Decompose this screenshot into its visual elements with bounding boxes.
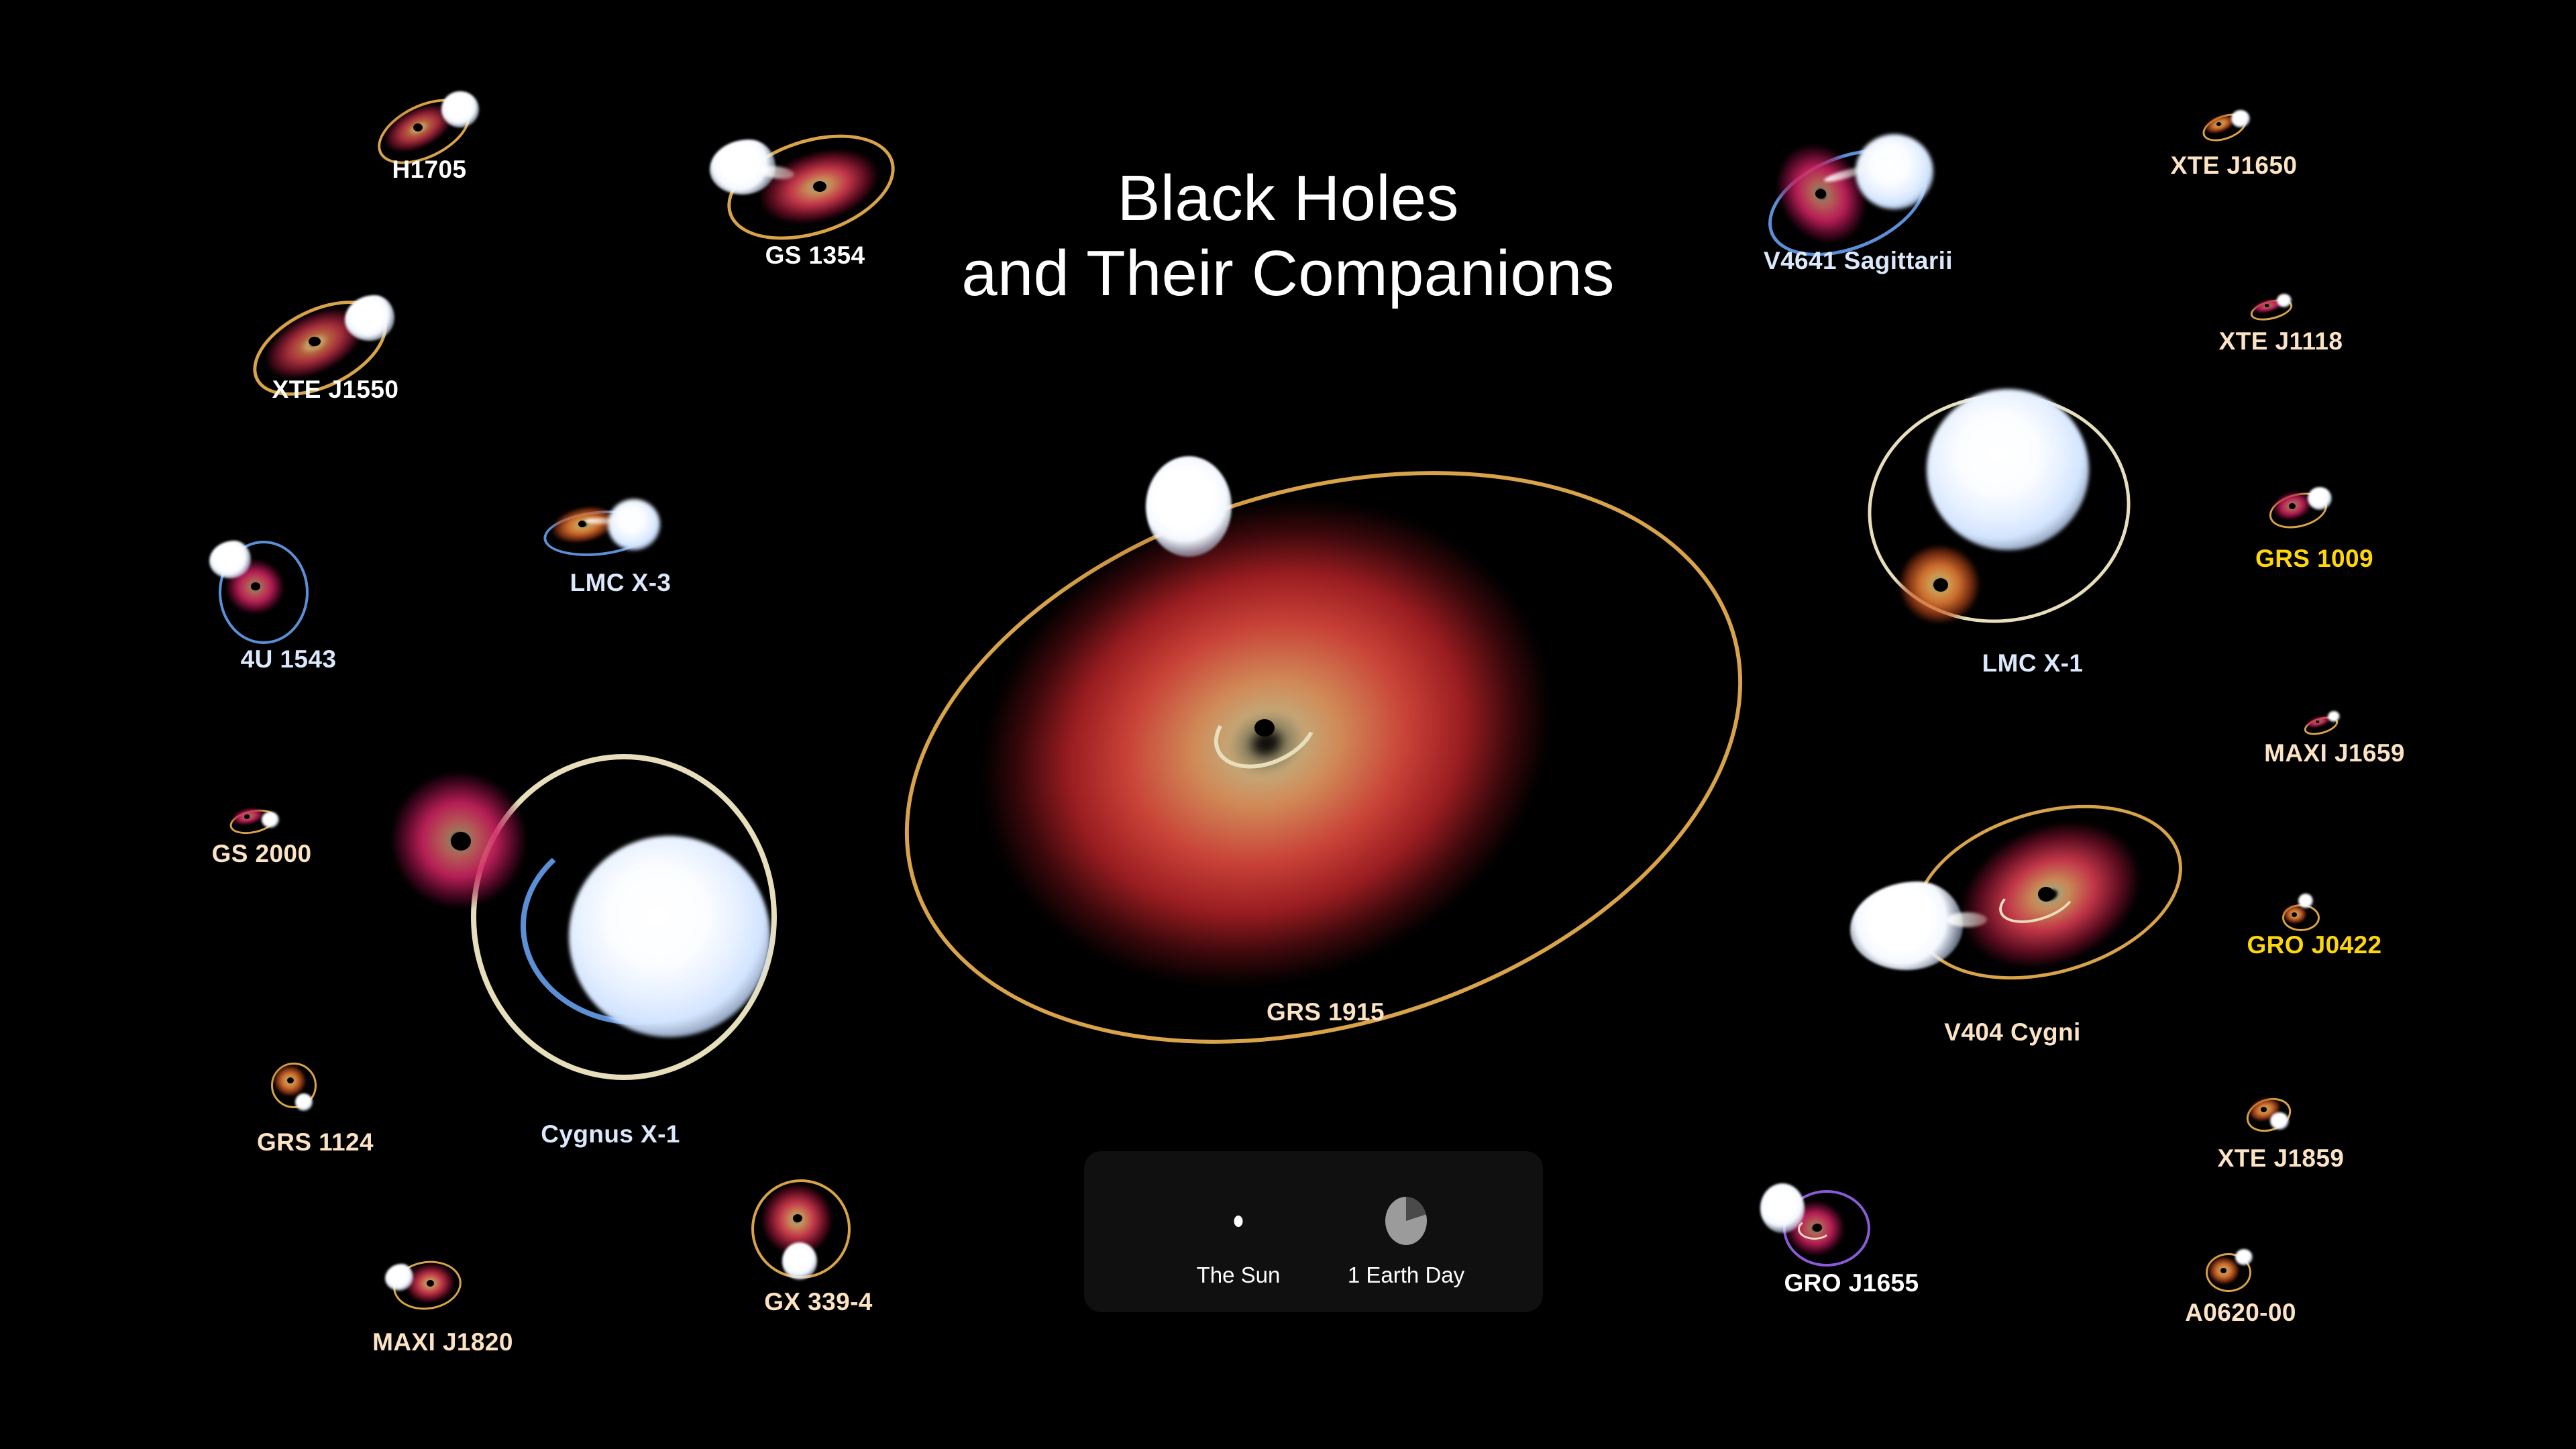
black-hole <box>427 1280 434 1287</box>
companion-star <box>2298 894 2313 908</box>
black-hole <box>1933 578 1948 592</box>
system-label: GRS 1915 <box>1267 998 1385 1026</box>
system-label: GRS 1124 <box>257 1128 374 1157</box>
system-label: XTE J1859 <box>2218 1144 2345 1173</box>
companion-star <box>569 836 770 1037</box>
system-gro-j1655[interactable]: GRO J1655 <box>1744 1167 1959 1342</box>
system-grs-1009[interactable]: GRS 1009 <box>2241 470 2388 590</box>
black-hole <box>287 1077 294 1083</box>
black-hole <box>1815 189 1826 199</box>
system-xte-j1650[interactable]: XTE J1650 <box>2167 101 2301 208</box>
system-cygnus-x-1[interactable]: Cygnus X-1 <box>376 724 845 1167</box>
sky-canvas: Black Holes and Their Companions H1705 G… <box>0 0 2576 1449</box>
legend-label-earth-day: 1 Earth Day <box>1348 1263 1464 1288</box>
inner-ring <box>1798 1218 1831 1240</box>
system-label: XTE J1650 <box>2171 152 2298 180</box>
system-gro-j0422[interactable]: GRO J0422 <box>2247 879 2381 979</box>
companion-star <box>1850 881 1963 970</box>
system-label: GRO J1655 <box>1784 1269 1919 1297</box>
system-lmc-x-3[interactable]: LMC X-3 <box>530 483 711 631</box>
accretion-stream <box>585 518 617 524</box>
black-hole <box>793 1214 802 1222</box>
black-hole <box>2289 503 2296 509</box>
system-label: A0620-00 <box>2185 1299 2296 1327</box>
companion-star <box>2231 110 2250 127</box>
companion-star <box>209 541 251 578</box>
black-hole <box>244 814 250 819</box>
system-4u-1543[interactable]: 4U 1543 <box>195 523 382 691</box>
companion-star <box>2270 1112 2289 1130</box>
system-label: H1705 <box>392 156 466 184</box>
system-label: V404 Cygni <box>1944 1018 2080 1046</box>
system-label: GS 2000 <box>212 840 312 868</box>
companion-star <box>441 91 479 127</box>
companion-star <box>1146 456 1232 557</box>
companion-star <box>782 1242 817 1280</box>
black-hole <box>2216 122 2221 126</box>
accretion-stream <box>1947 912 1987 927</box>
companion-star <box>2277 294 2292 307</box>
system-label: GRS 1009 <box>2255 545 2373 573</box>
system-label: GX 339-4 <box>764 1288 873 1316</box>
companion-star <box>295 1093 313 1111</box>
system-a0620-00[interactable]: A0620-00 <box>2173 1234 2308 1348</box>
system-label: 4U 1543 <box>241 645 337 674</box>
system-label: Cygnus X-1 <box>541 1120 680 1148</box>
black-hole <box>413 123 423 131</box>
system-xte-j1859[interactable]: XTE J1859 <box>2214 1080 2348 1194</box>
system-xte-j1118[interactable]: XTE J1118 <box>2214 275 2348 376</box>
system-gs-2000[interactable]: GS 2000 <box>195 785 329 892</box>
system-xte-j1550[interactable]: XTE J1550 <box>235 282 436 443</box>
legend-label-sun: The Sun <box>1197 1263 1281 1288</box>
companion-star <box>1856 134 1933 209</box>
earth-day-pie-icon <box>1385 1197 1427 1245</box>
companion-star <box>262 812 279 828</box>
companion-star <box>1927 389 2089 550</box>
system-grs-1915[interactable]: GRS 1915 <box>885 429 1825 1087</box>
system-label: LMC X-1 <box>1982 649 2084 678</box>
system-maxi-j1659[interactable]: MAXI J1659 <box>2267 691 2402 785</box>
black-hole <box>2292 912 2297 917</box>
system-grs-1124[interactable]: GRS 1124 <box>241 1046 389 1167</box>
system-label: LMC X-3 <box>570 569 672 597</box>
system-label: V4641 Sagittarii <box>1764 247 1953 275</box>
system-h1705[interactable]: H1705 <box>362 67 496 188</box>
black-hole <box>813 181 826 192</box>
black-hole <box>251 582 260 590</box>
companion-star <box>1760 1183 1805 1233</box>
sun-dot-icon <box>1234 1216 1243 1227</box>
black-hole <box>2261 1107 2267 1112</box>
system-v4641-sagittarii[interactable]: V4641 Sagittarii <box>1737 121 1979 322</box>
system-label: MAXI J1820 <box>372 1328 513 1356</box>
system-label: XTE J1118 <box>2219 327 2343 356</box>
companion-star <box>2328 711 2340 722</box>
system-label: GRO J0422 <box>2247 931 2381 959</box>
companion-star <box>2308 487 2332 510</box>
black-hole <box>2316 720 2319 723</box>
scale-legend-panel: The Sun 1 Earth Day <box>1084 1151 1543 1312</box>
system-v404-cygni[interactable]: V404 Cygni <box>1825 792 2200 1073</box>
system-label: MAXI J1659 <box>2264 739 2405 767</box>
legend-item-sun[interactable]: The Sun <box>1171 1151 1305 1312</box>
black-hole <box>309 337 321 346</box>
system-label: XTE J1550 <box>272 376 399 404</box>
system-gs-1354[interactable]: GS 1354 <box>698 127 932 322</box>
system-gx-339-4[interactable]: GX 339-4 <box>724 1167 912 1342</box>
system-maxi-j1820[interactable]: MAXI J1820 <box>362 1248 523 1382</box>
system-lmc-x-1[interactable]: LMC X-1 <box>1851 382 2214 731</box>
system-label: GS 1354 <box>765 241 865 270</box>
companion-star <box>2235 1249 2253 1265</box>
legend-item-earth-day[interactable]: 1 Earth Day <box>1332 1151 1480 1312</box>
companion-star <box>385 1264 413 1291</box>
black-hole <box>2265 304 2269 307</box>
black-hole <box>2220 1268 2226 1273</box>
black-hole <box>451 832 471 851</box>
companion-star <box>608 499 660 550</box>
